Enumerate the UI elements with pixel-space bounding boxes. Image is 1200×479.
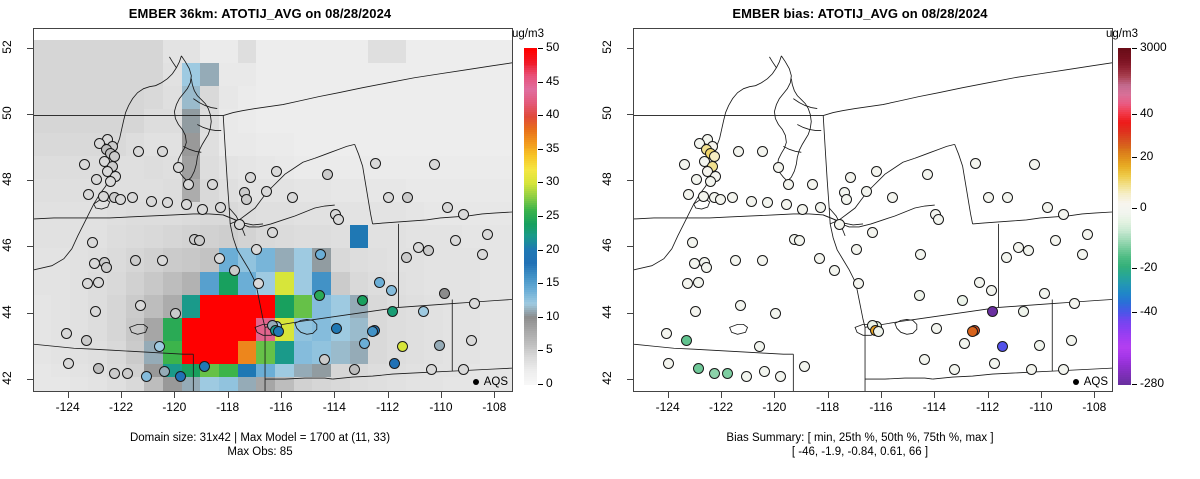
monitor-marker[interactable] bbox=[933, 214, 944, 225]
x-axis-label: -122 bbox=[699, 400, 743, 414]
aqs-legend: AQS bbox=[1073, 376, 1108, 388]
colorbar-unit-label: ug/m3 bbox=[512, 28, 544, 40]
monitor-marker[interactable] bbox=[469, 298, 480, 309]
monitor-marker[interactable] bbox=[450, 235, 461, 246]
monitor-marker[interactable] bbox=[663, 358, 674, 369]
colorbar-tick-label: 45 bbox=[546, 74, 559, 88]
x-axis-tick bbox=[174, 392, 175, 398]
monitor-marker[interactable] bbox=[967, 326, 978, 337]
y-axis-label: 48 bbox=[0, 162, 14, 196]
y-axis-label: 44 bbox=[0, 295, 14, 329]
monitor-marker[interactable] bbox=[757, 146, 768, 157]
monitor-marker[interactable] bbox=[439, 288, 450, 299]
monitor-marker[interactable] bbox=[733, 146, 744, 157]
x-axis-tick bbox=[988, 392, 989, 398]
monitor-marker[interactable] bbox=[915, 249, 926, 260]
monitor-marker[interactable] bbox=[845, 172, 856, 183]
monitor-layer bbox=[634, 29, 1112, 391]
y-axis-tick bbox=[627, 114, 633, 115]
monitor-marker[interactable] bbox=[959, 338, 970, 349]
monitor-marker[interactable] bbox=[715, 194, 726, 205]
monitor-marker[interactable] bbox=[141, 371, 152, 382]
y-axis-tick bbox=[627, 379, 633, 380]
monitor-marker[interactable] bbox=[797, 204, 808, 215]
monitor-marker[interactable] bbox=[781, 199, 792, 210]
x-axis-tick bbox=[1094, 392, 1095, 398]
x-axis-label: -116 bbox=[859, 400, 903, 414]
monitor-marker[interactable] bbox=[1069, 298, 1080, 309]
monitor-marker[interactable] bbox=[683, 189, 694, 200]
monitor-marker[interactable] bbox=[98, 191, 109, 202]
monitor-marker[interactable] bbox=[986, 285, 997, 296]
monitor-marker[interactable] bbox=[851, 244, 862, 255]
panel-title: EMBER 36km: ATOTIJ_AVG on 08/28/2024 bbox=[0, 6, 520, 21]
monitor-marker[interactable] bbox=[815, 202, 826, 213]
y-axis-label: 50 bbox=[600, 96, 614, 130]
monitor-marker[interactable] bbox=[423, 245, 434, 256]
monitor-marker[interactable] bbox=[389, 358, 400, 369]
monitor-marker[interactable] bbox=[387, 306, 398, 317]
x-axis-label: -114 bbox=[312, 400, 356, 414]
colorbar-unit-label: ug/m3 bbox=[1106, 28, 1138, 40]
monitor-marker[interactable] bbox=[83, 189, 94, 200]
monitor-marker[interactable] bbox=[63, 358, 74, 369]
monitor-marker[interactable] bbox=[922, 169, 933, 180]
monitor-marker[interactable] bbox=[853, 278, 864, 289]
panel-bias: EMBER bias: ATOTIJ_AVG on 08/28/2024 AQS… bbox=[600, 0, 1200, 479]
colorbar-tick bbox=[538, 48, 543, 49]
monitor-marker[interactable] bbox=[90, 306, 101, 317]
monitor-marker[interactable] bbox=[442, 202, 453, 213]
monitor-marker[interactable] bbox=[386, 285, 397, 296]
monitor-marker[interactable] bbox=[181, 199, 192, 210]
colorbar-tick bbox=[538, 250, 543, 251]
caption-line-1: Bias Summary: [ min, 25th %, 50th %, 75t… bbox=[600, 431, 1120, 445]
monitor-marker[interactable] bbox=[287, 192, 298, 203]
x-axis-label: -110 bbox=[1019, 400, 1063, 414]
x-axis-label: -120 bbox=[752, 400, 796, 414]
monitor-marker[interactable] bbox=[81, 335, 92, 346]
x-axis-tick bbox=[228, 392, 229, 398]
x-axis-tick bbox=[828, 392, 829, 398]
colorbar-tick-label: 0 bbox=[1140, 200, 1147, 214]
monitor-marker[interactable] bbox=[834, 219, 845, 230]
caption-line-1: Domain size: 31x42 | Max Model = 1700 at… bbox=[0, 431, 520, 445]
monitor-marker[interactable] bbox=[251, 244, 262, 255]
colorbar-tick bbox=[538, 216, 543, 217]
x-axis-label: -124 bbox=[46, 400, 90, 414]
monitor-marker[interactable] bbox=[93, 277, 104, 288]
monitor-marker[interactable] bbox=[730, 255, 741, 266]
monitor-marker[interactable] bbox=[687, 237, 698, 248]
monitor-marker[interactable] bbox=[207, 179, 218, 190]
monitor-marker[interactable] bbox=[949, 364, 960, 375]
y-axis-label: 42 bbox=[600, 361, 614, 395]
monitor-marker[interactable] bbox=[253, 278, 264, 289]
monitor-marker[interactable] bbox=[957, 295, 968, 306]
x-axis-label: -116 bbox=[259, 400, 303, 414]
colorbar-tick bbox=[538, 82, 543, 83]
x-axis-tick bbox=[668, 392, 669, 398]
x-axis-tick bbox=[441, 392, 442, 398]
monitor-marker[interactable] bbox=[127, 192, 138, 203]
colorbar-tick bbox=[538, 182, 543, 183]
monitor-marker[interactable] bbox=[477, 249, 488, 260]
colorbar-tick-label: -280 bbox=[1140, 376, 1164, 390]
monitor-marker[interactable] bbox=[691, 174, 702, 185]
monitor-marker[interactable] bbox=[159, 366, 170, 377]
y-axis-tick bbox=[27, 313, 33, 314]
x-axis-label: -110 bbox=[419, 400, 463, 414]
x-axis-label: -112 bbox=[966, 400, 1010, 414]
monitor-marker[interactable] bbox=[709, 368, 720, 379]
monitor-marker[interactable] bbox=[418, 306, 429, 317]
y-axis-tick bbox=[27, 48, 33, 49]
x-axis-label: -124 bbox=[646, 400, 690, 414]
map-plot-area[interactable]: AQS bbox=[633, 28, 1113, 392]
x-axis-tick bbox=[281, 392, 282, 398]
monitor-marker[interactable] bbox=[157, 146, 168, 157]
colorbar-tick bbox=[1132, 384, 1137, 385]
monitor-marker[interactable] bbox=[689, 258, 700, 269]
monitor-marker[interactable] bbox=[229, 265, 240, 276]
monitor-layer bbox=[34, 29, 512, 391]
x-axis-tick bbox=[1041, 392, 1042, 398]
monitor-marker[interactable] bbox=[1058, 364, 1069, 375]
x-axis-tick bbox=[334, 392, 335, 398]
monitor-marker[interactable] bbox=[1026, 364, 1037, 375]
monitor-marker[interactable] bbox=[89, 258, 100, 269]
monitor-marker[interactable] bbox=[679, 159, 690, 170]
panel-caption: Bias Summary: [ min, 25th %, 50th %, 75t… bbox=[600, 431, 1120, 459]
monitor-marker[interactable] bbox=[183, 179, 194, 190]
monitor-marker[interactable] bbox=[267, 227, 278, 238]
colorbar-tick-label: 35 bbox=[546, 141, 559, 155]
x-axis-tick bbox=[774, 392, 775, 398]
monitor-marker[interactable] bbox=[693, 277, 704, 288]
x-axis-tick bbox=[494, 392, 495, 398]
monitor-marker[interactable] bbox=[705, 176, 716, 187]
monitor-marker[interactable] bbox=[133, 146, 144, 157]
colorbar-tick bbox=[538, 283, 543, 284]
y-axis-label: 48 bbox=[600, 162, 614, 196]
monitor-marker[interactable] bbox=[661, 328, 672, 339]
monitor-marker[interactable] bbox=[754, 341, 765, 352]
monitor-marker[interactable] bbox=[919, 354, 930, 365]
monitor-marker[interactable] bbox=[383, 192, 394, 203]
x-axis-label: -118 bbox=[206, 400, 250, 414]
y-axis-tick bbox=[27, 246, 33, 247]
monitor-marker[interactable] bbox=[873, 326, 884, 337]
monitor-marker[interactable] bbox=[698, 191, 709, 202]
x-axis-label: -112 bbox=[366, 400, 410, 414]
monitor-marker[interactable] bbox=[273, 326, 284, 337]
panel-caption: Domain size: 31x42 | Max Model = 1700 at… bbox=[0, 431, 520, 459]
caption-line-2: [ -46, -1.9, -0.84, 0.61, 66 ] bbox=[600, 445, 1120, 459]
monitor-marker[interactable] bbox=[154, 341, 165, 352]
x-axis-label: -108 bbox=[472, 400, 516, 414]
colorbar-tick bbox=[538, 384, 543, 385]
monitor-marker[interactable] bbox=[157, 255, 168, 266]
monitor-marker[interactable] bbox=[1013, 242, 1024, 253]
monitor-marker[interactable] bbox=[727, 192, 738, 203]
monitor-marker[interactable] bbox=[681, 335, 692, 346]
monitor-marker[interactable] bbox=[215, 202, 226, 213]
colorbar-tick bbox=[538, 350, 543, 351]
x-axis-tick bbox=[121, 392, 122, 398]
monitor-marker[interactable] bbox=[458, 364, 469, 375]
monitor-marker[interactable] bbox=[349, 364, 360, 375]
colorbar-tick bbox=[538, 317, 543, 318]
caption-line-2: Max Obs: 85 bbox=[0, 445, 520, 459]
monitor-marker[interactable] bbox=[101, 262, 112, 273]
monitor-marker[interactable] bbox=[1077, 249, 1088, 260]
monitor-marker[interactable] bbox=[482, 229, 493, 240]
monitor-marker[interactable] bbox=[466, 335, 477, 346]
monitor-marker[interactable] bbox=[135, 300, 146, 311]
colorbar-tick bbox=[1132, 312, 1137, 313]
monitor-marker[interactable] bbox=[983, 192, 994, 203]
monitor-marker[interactable] bbox=[1050, 235, 1061, 246]
monitor-marker[interactable] bbox=[814, 253, 825, 264]
y-axis-label: 52 bbox=[600, 30, 614, 64]
aqs-legend-label: AQS bbox=[484, 376, 508, 388]
y-axis-label: 52 bbox=[0, 30, 14, 64]
monitor-marker[interactable] bbox=[79, 159, 90, 170]
monitor-marker[interactable] bbox=[105, 176, 116, 187]
monitor-marker[interactable] bbox=[1034, 340, 1045, 351]
monitor-marker[interactable] bbox=[741, 371, 752, 382]
monitor-marker[interactable] bbox=[1042, 202, 1053, 213]
monitor-marker[interactable] bbox=[261, 186, 272, 197]
aqs-dot-icon bbox=[473, 379, 479, 385]
monitor-marker[interactable] bbox=[759, 366, 770, 377]
colorbar-tick-label: 20 bbox=[546, 242, 559, 256]
monitor-marker[interactable] bbox=[173, 162, 184, 173]
monitor-marker[interactable] bbox=[989, 358, 1000, 369]
monitor-marker[interactable] bbox=[458, 209, 469, 220]
y-axis-tick bbox=[27, 180, 33, 181]
monitor-marker[interactable] bbox=[331, 323, 342, 334]
colorbar-tick-label: 0 bbox=[546, 376, 553, 390]
monitor-marker[interactable] bbox=[61, 328, 72, 339]
colorbar-tick-label: -40 bbox=[1140, 304, 1157, 318]
monitor-marker[interactable] bbox=[93, 363, 104, 374]
y-axis-label: 46 bbox=[0, 228, 14, 262]
monitor-marker[interactable] bbox=[974, 277, 985, 288]
monitor-marker[interactable] bbox=[370, 158, 381, 169]
x-axis-label: -108 bbox=[1072, 400, 1116, 414]
y-axis-tick bbox=[27, 114, 33, 115]
monitor-marker[interactable] bbox=[271, 166, 282, 177]
monitor-marker[interactable] bbox=[783, 179, 794, 190]
monitor-marker[interactable] bbox=[970, 158, 981, 169]
y-axis-tick bbox=[627, 48, 633, 49]
monitor-marker[interactable] bbox=[109, 368, 120, 379]
map-plot-area[interactable]: AQS bbox=[33, 28, 513, 392]
aqs-dot-icon bbox=[1073, 379, 1079, 385]
colorbar-tick bbox=[538, 115, 543, 116]
monitor-marker[interactable] bbox=[402, 192, 413, 203]
monitor-marker[interactable] bbox=[829, 265, 840, 276]
colorbar-tick-label: 5 bbox=[546, 342, 553, 356]
monitor-marker[interactable] bbox=[1029, 159, 1040, 170]
monitor-marker[interactable] bbox=[735, 300, 746, 311]
colorbar-tick bbox=[1132, 157, 1137, 158]
monitor-marker[interactable] bbox=[214, 253, 225, 264]
monitor-marker[interactable] bbox=[234, 219, 245, 230]
panel-model: EMBER 36km: ATOTIJ_AVG on 08/28/2024 AQS… bbox=[0, 0, 600, 479]
x-axis-tick bbox=[721, 392, 722, 398]
monitor-marker[interactable] bbox=[357, 295, 368, 306]
monitor-marker[interactable] bbox=[775, 371, 786, 382]
monitor-marker[interactable] bbox=[397, 341, 408, 352]
monitor-marker[interactable] bbox=[807, 179, 818, 190]
monitor-marker[interactable] bbox=[241, 194, 252, 205]
monitor-marker[interactable] bbox=[245, 172, 256, 183]
y-axis-tick bbox=[627, 313, 633, 314]
x-axis-label: -122 bbox=[99, 400, 143, 414]
monitor-marker[interactable] bbox=[319, 354, 330, 365]
monitor-marker[interactable] bbox=[374, 277, 385, 288]
monitor-marker[interactable] bbox=[867, 227, 878, 238]
y-axis-label: 44 bbox=[600, 295, 614, 329]
monitor-marker[interactable] bbox=[170, 308, 181, 319]
colorbar-tick bbox=[1132, 48, 1137, 49]
monitor-marker[interactable] bbox=[91, 174, 102, 185]
monitor-marker[interactable] bbox=[1066, 335, 1077, 346]
colorbar-tick bbox=[1132, 114, 1137, 115]
colorbar-tick-label: 10 bbox=[546, 309, 559, 323]
y-axis-tick bbox=[627, 180, 633, 181]
monitor-marker[interactable] bbox=[799, 361, 810, 372]
colorbar-tick-label: 30 bbox=[546, 174, 559, 188]
monitor-marker[interactable] bbox=[871, 166, 882, 177]
monitor-marker[interactable] bbox=[762, 197, 773, 208]
monitor-marker[interactable] bbox=[122, 368, 133, 379]
monitor-marker[interactable] bbox=[367, 326, 378, 337]
colorbar-tick bbox=[1132, 268, 1137, 269]
colorbar-segment bbox=[524, 48, 537, 51]
colorbar-tick-label: 15 bbox=[546, 275, 559, 289]
monitor-marker[interactable] bbox=[914, 290, 925, 301]
monitor-marker[interactable] bbox=[987, 306, 998, 317]
x-axis-label: -118 bbox=[806, 400, 850, 414]
monitor-marker[interactable] bbox=[693, 363, 704, 374]
colorbar-segment bbox=[1118, 48, 1131, 51]
monitor-marker[interactable] bbox=[130, 255, 141, 266]
y-axis-tick bbox=[27, 379, 33, 380]
monitor-marker[interactable] bbox=[434, 340, 445, 351]
monitor-marker[interactable] bbox=[333, 214, 344, 225]
x-axis-tick bbox=[934, 392, 935, 398]
monitor-marker[interactable] bbox=[314, 290, 325, 301]
monitor-marker[interactable] bbox=[429, 159, 440, 170]
monitor-marker[interactable] bbox=[315, 249, 326, 260]
colorbar-tick-label: 25 bbox=[546, 208, 559, 222]
monitor-marker[interactable] bbox=[175, 371, 186, 382]
monitor-marker[interactable] bbox=[722, 368, 733, 379]
x-axis-tick bbox=[388, 392, 389, 398]
y-axis-tick bbox=[627, 246, 633, 247]
y-axis-label: 42 bbox=[0, 361, 14, 395]
monitor-marker[interactable] bbox=[1002, 192, 1013, 203]
monitor-marker[interactable] bbox=[146, 196, 157, 207]
monitor-marker[interactable] bbox=[87, 237, 98, 248]
colorbar-tick-label: 40 bbox=[546, 107, 559, 121]
monitor-marker[interactable] bbox=[770, 308, 781, 319]
monitor-marker[interactable] bbox=[841, 194, 852, 205]
monitor-marker[interactable] bbox=[861, 186, 872, 197]
monitor-marker[interactable] bbox=[1039, 288, 1050, 299]
x-axis-tick bbox=[881, 392, 882, 398]
colorbar-tick bbox=[1132, 208, 1137, 209]
colorbar-tick bbox=[538, 149, 543, 150]
monitor-marker[interactable] bbox=[401, 252, 412, 263]
y-axis-label: 46 bbox=[600, 228, 614, 262]
monitor-marker[interactable] bbox=[197, 204, 208, 215]
monitor-marker[interactable] bbox=[746, 196, 757, 207]
monitor-marker[interactable] bbox=[1001, 252, 1012, 263]
monitor-marker[interactable] bbox=[194, 235, 205, 246]
monitor-marker[interactable] bbox=[997, 341, 1008, 352]
monitor-marker[interactable] bbox=[359, 338, 370, 349]
monitor-marker[interactable] bbox=[115, 194, 126, 205]
colorbar-tick-label: -20 bbox=[1140, 260, 1157, 274]
colorbar-tick-label: 3000 bbox=[1140, 40, 1167, 54]
monitor-marker[interactable] bbox=[682, 278, 693, 289]
monitor-marker[interactable] bbox=[82, 278, 93, 289]
x-axis-label: -120 bbox=[152, 400, 196, 414]
colorbar-tick-label: 20 bbox=[1140, 149, 1153, 163]
monitor-marker[interactable] bbox=[887, 192, 898, 203]
monitor-marker[interactable] bbox=[794, 235, 805, 246]
monitor-marker[interactable] bbox=[162, 197, 173, 208]
colorbar-tick-label: 40 bbox=[1140, 106, 1153, 120]
monitor-marker[interactable] bbox=[199, 361, 210, 372]
monitor-marker[interactable] bbox=[1023, 245, 1034, 256]
x-axis-label: -114 bbox=[912, 400, 956, 414]
y-axis-label: 50 bbox=[0, 96, 14, 130]
monitor-marker[interactable] bbox=[773, 162, 784, 173]
aqs-legend-label: AQS bbox=[1084, 376, 1108, 388]
monitor-marker[interactable] bbox=[1058, 209, 1069, 220]
monitor-marker[interactable] bbox=[701, 262, 712, 273]
monitor-marker[interactable] bbox=[757, 255, 768, 266]
monitor-marker[interactable] bbox=[322, 169, 333, 180]
monitor-marker[interactable] bbox=[413, 242, 424, 253]
monitor-marker[interactable] bbox=[931, 323, 942, 334]
x-axis-tick bbox=[68, 392, 69, 398]
monitor-marker[interactable] bbox=[1018, 306, 1029, 317]
aqs-legend: AQS bbox=[473, 376, 508, 388]
colorbar-tick-label: 50 bbox=[546, 40, 559, 54]
monitor-marker[interactable] bbox=[426, 364, 437, 375]
monitor-marker[interactable] bbox=[690, 306, 701, 317]
monitor-marker[interactable] bbox=[1082, 229, 1093, 240]
panel-title: EMBER bias: ATOTIJ_AVG on 08/28/2024 bbox=[600, 6, 1120, 21]
